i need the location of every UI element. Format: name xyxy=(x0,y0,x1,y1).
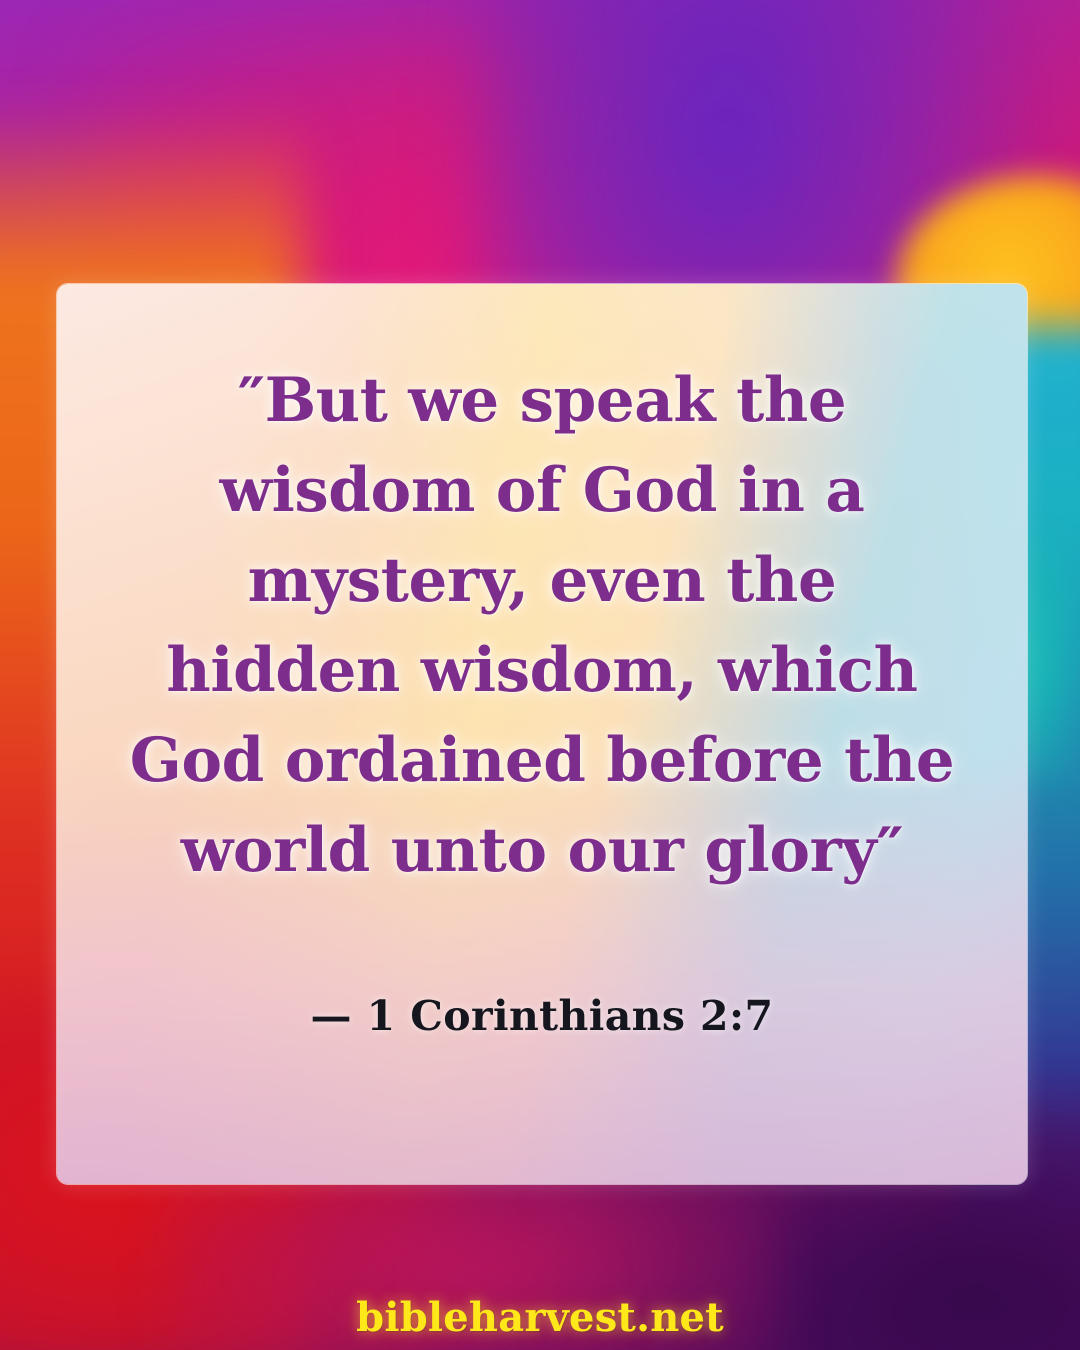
quote-card: ″But we speak the wisdom of God in a mys… xyxy=(56,283,1028,1185)
verse-graphic-page: { "card": { "quote_text": "″But we speak… xyxy=(0,0,1080,1350)
scripture-reference: — 1 Corinthians 2:7 xyxy=(127,992,957,1040)
site-wordmark[interactable]: bibleharvest.net xyxy=(356,1294,724,1341)
scripture-quote-text: ″But we speak the wisdom of God in a mys… xyxy=(127,356,957,896)
quote-card-content: ″But we speak the wisdom of God in a mys… xyxy=(57,284,1027,1184)
site-footer: bibleharvest.net xyxy=(0,1294,1080,1341)
